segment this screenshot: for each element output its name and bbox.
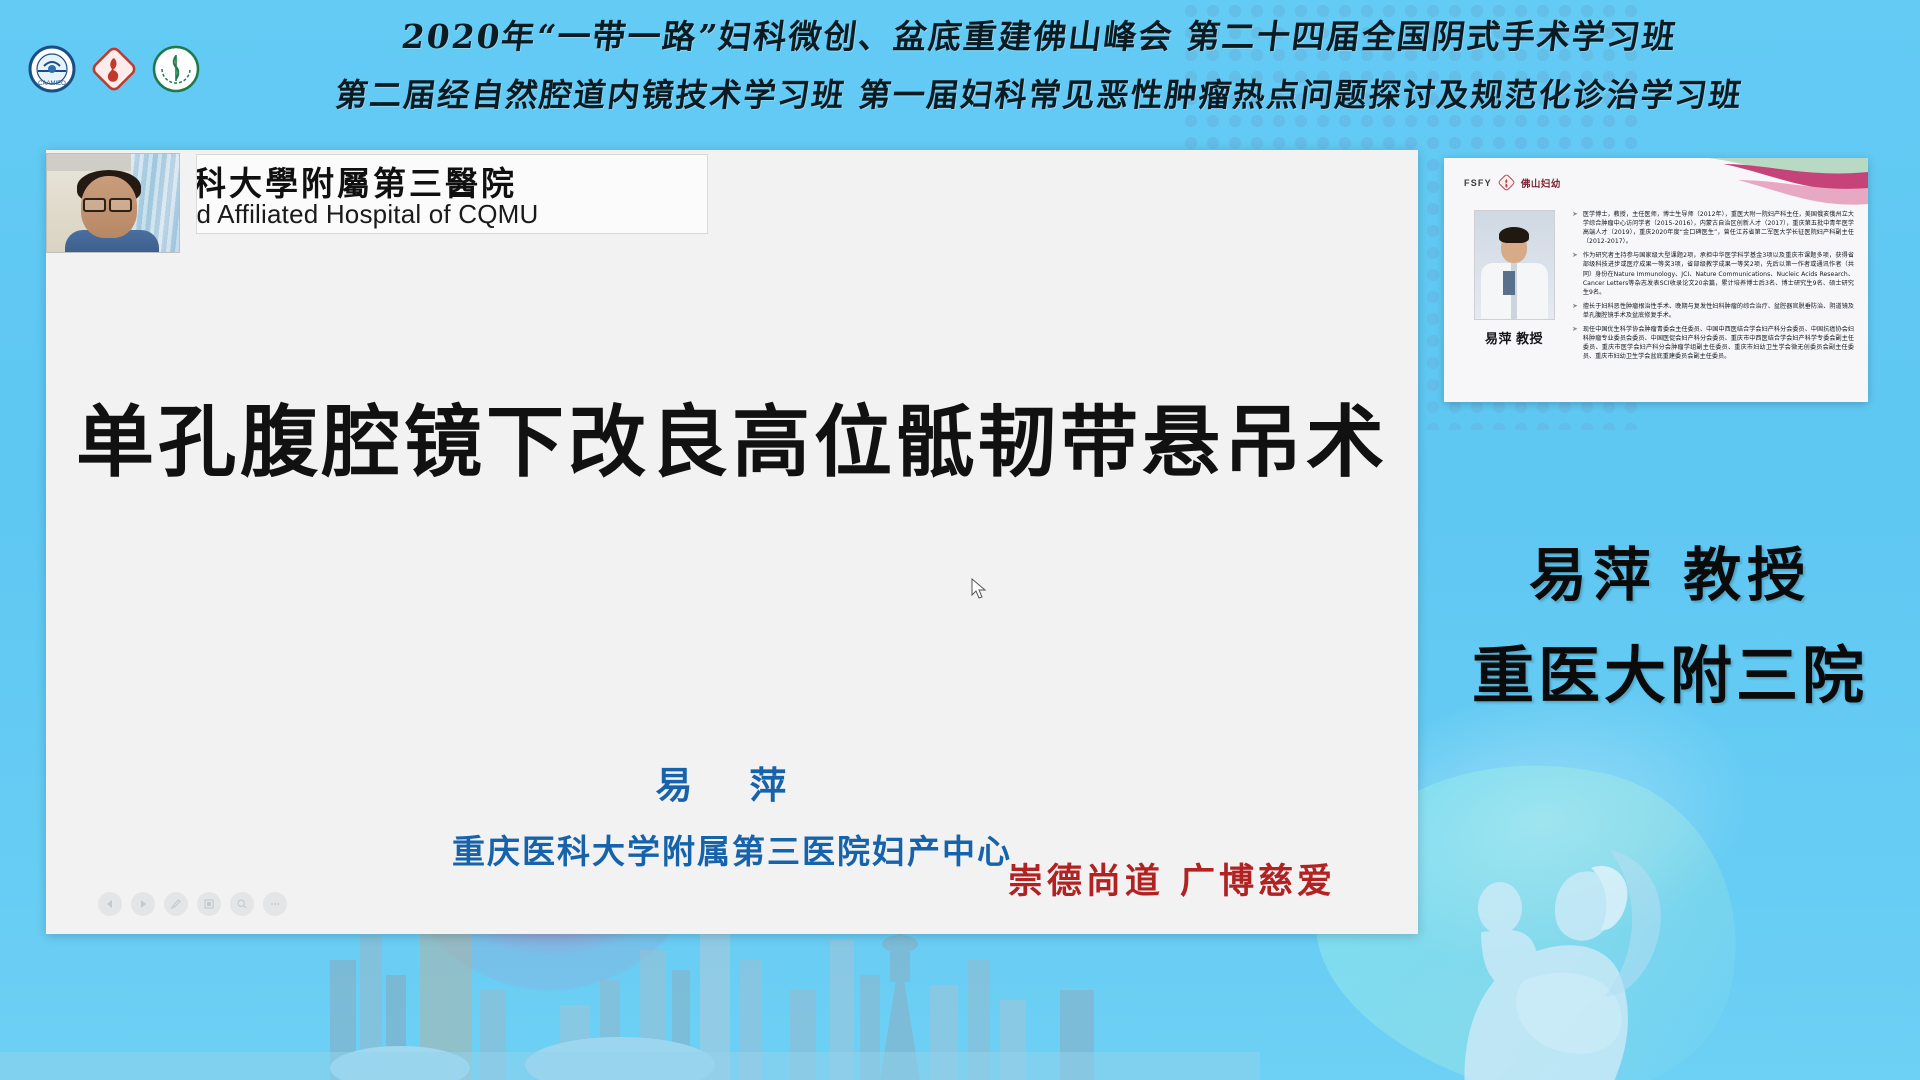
fsfy-diamond-logo xyxy=(90,45,138,93)
screen-root: CAAMIEO 2020年“一带一路”妇科微创、盆底重建佛山峰会 第二十四 xyxy=(0,0,1920,1080)
header-line-1: 2020年“一带一路”妇科微创、盆底重建佛山峰会 第二十四届全国阴式手术学习班 xyxy=(399,10,1680,58)
bio-list-item: ➤ 现任中国优生科学协会肿瘤青委会主任委员、中国中西医结合学会妇产科分会委员、中… xyxy=(1572,325,1854,361)
bio-text-list: ➤ 医学博士，教授，主任医师，博士生导师（2012年），重医大附一院妇产科主任，… xyxy=(1572,210,1854,366)
mouse-cursor xyxy=(971,578,987,600)
slide-motto: 崇德尚道 广博慈爱 xyxy=(1008,853,1336,904)
right-speaker-name: 易萍 教授 xyxy=(1440,528,1900,612)
mother-and-child-statue-watermark xyxy=(1405,790,1735,1080)
slide-author-name: 易 萍 xyxy=(46,755,1418,809)
brand-code-text: FSFY xyxy=(1464,178,1492,188)
medical-association-logo xyxy=(152,45,200,93)
portrait-shirt xyxy=(1503,271,1515,295)
brand-name-cn: 佛山妇幼 xyxy=(1521,176,1561,190)
slide-canvas: 醫科大學附屬第三醫院 hird Affiliated Hospital of C… xyxy=(46,150,1418,934)
zoom-button[interactable] xyxy=(230,892,254,916)
caamieo-logo: CAAMIEO xyxy=(28,45,76,93)
event-header: CAAMIEO 2020年“一带一路”妇科微创、盆底重建佛山峰会 第二十四 xyxy=(0,0,1920,150)
more-options-button[interactable] xyxy=(263,892,287,916)
organizer-logos: CAAMIEO xyxy=(28,45,200,93)
right-speaker-organization: 重医大附三院 xyxy=(1440,625,1900,715)
hospital-name-cn: 醫科大學附屬第三醫院 xyxy=(196,157,517,205)
pen-tool-button[interactable] xyxy=(164,892,188,916)
bio-list-item: ➤ 作为研究者主持参与国家级大型课题2项，承担中华医学科学基金3项以及重庆市课题… xyxy=(1572,251,1854,296)
prev-slide-button[interactable] xyxy=(98,892,122,916)
speaker-bio-card: FSFY 佛山妇幼 易萍 教授 ➤ 医学博士，教授，主任医师，博士生导师（201… xyxy=(1444,158,1868,402)
presenter-toolbar[interactable] xyxy=(98,892,287,916)
header-line-2: 第二届经自然腔道内镜技术学习班 第一届妇科常见恶性肿瘤热点问题探讨及规范化诊治学… xyxy=(334,70,1747,116)
chevron-right-icon: ➤ xyxy=(1572,210,1578,246)
bio-item-text: 作为研究者主持参与国家级大型课题2项，承担中华医学科学基金3项以及重庆市课题多项… xyxy=(1583,251,1854,296)
bio-card-brand: FSFY 佛山妇幼 xyxy=(1464,174,1561,191)
header-title-block: 2020年“一带一路”妇科微创、盆底重建佛山峰会 第二十四届全国阴式手术学习班 … xyxy=(200,10,1880,116)
speaker-portrait-photo xyxy=(1474,210,1555,320)
portrait-hair xyxy=(1499,227,1529,243)
chevron-right-icon: ➤ xyxy=(1572,302,1578,320)
bio-item-text: 医学博士，教授，主任医师，博士生导师（2012年），重医大附一院妇产科主任，美国… xyxy=(1583,210,1854,246)
chevron-right-icon: ➤ xyxy=(1572,251,1578,296)
webcam-glasses-right xyxy=(109,198,132,212)
slide-title: 单孔腹腔镜下改良高位骶韧带悬吊术 xyxy=(46,380,1418,492)
bio-list-item: ➤ 医学博士，教授，主任医师，博士生导师（2012年），重医大附一院妇产科主任，… xyxy=(1572,210,1854,246)
presentation-slide[interactable]: 醫科大學附屬第三醫院 hird Affiliated Hospital of C… xyxy=(46,150,1418,934)
chevron-right-icon: ➤ xyxy=(1572,325,1578,361)
fsfy-diamond-icon xyxy=(1498,174,1515,191)
svg-text:CAAMIEO: CAAMIEO xyxy=(38,81,66,87)
bio-list-item: ➤ 擅长于妇科恶性肿瘤根治性手术、晚期与复发性妇科肿瘤的综合治疗、盆腔器官脱垂防… xyxy=(1572,302,1854,320)
all-slides-button[interactable] xyxy=(197,892,221,916)
bio-item-text: 现任中国优生科学协会肿瘤青委会主任委员、中国中西医结合学会妇产科分会委员、中国抗… xyxy=(1583,325,1854,361)
hospital-logo-banner: 醫科大學附屬第三醫院 hird Affiliated Hospital of C… xyxy=(196,154,708,234)
next-slide-button[interactable] xyxy=(131,892,155,916)
webcam-glasses-left xyxy=(83,198,106,212)
bio-item-text: 擅长于妇科恶性肿瘤根治性手术、晚期与复发性妇科肿瘤的综合治疗、盆腔器官脱垂防治、… xyxy=(1583,302,1854,320)
hospital-name-en: hird Affiliated Hospital of CQMU xyxy=(196,199,539,230)
bio-speaker-name: 易萍 教授 xyxy=(1474,328,1554,347)
presenter-webcam-video[interactable] xyxy=(46,153,180,253)
